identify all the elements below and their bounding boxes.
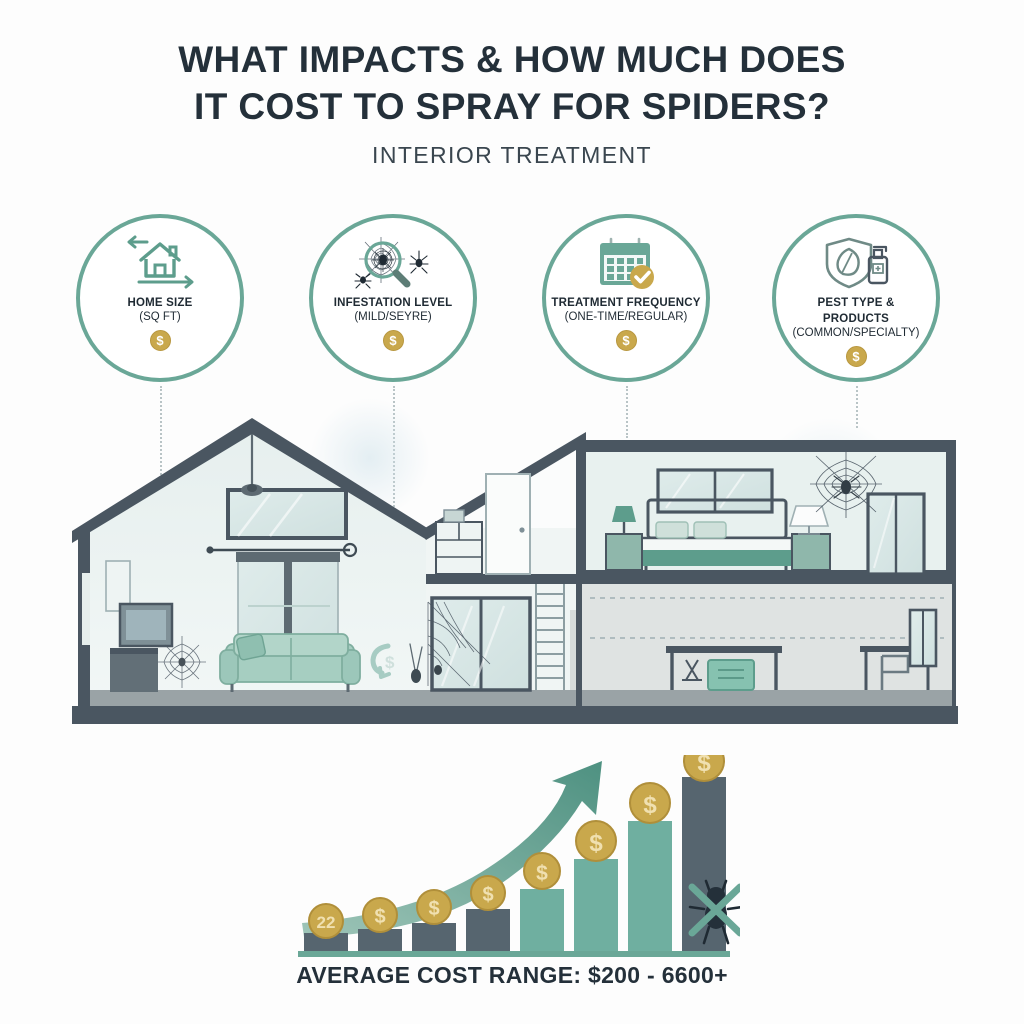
bar xyxy=(412,923,456,951)
svg-text:$: $ xyxy=(536,862,548,885)
bar xyxy=(574,859,618,951)
house-with-arrows-icon xyxy=(117,232,203,294)
factor-label-2: PRODUCTS xyxy=(823,312,889,326)
page-title-line1: WHAT IMPACTS & HOW MUCH DOES xyxy=(0,36,1024,83)
factor-label: INFESTATION LEVEL xyxy=(334,296,453,310)
coin-badge-icon: $ xyxy=(616,330,637,351)
factor-circles-row: HOME SIZE (SQ FT) $ xyxy=(0,214,1024,384)
coin-icon: $ xyxy=(630,783,670,823)
factor-sublabel: (ONE-TIME/REGULAR) xyxy=(565,310,688,324)
calendar-check-icon xyxy=(581,232,671,294)
svg-text:$: $ xyxy=(374,906,385,928)
svg-text:22: 22 xyxy=(317,913,336,932)
svg-text:$: $ xyxy=(385,653,395,672)
coin-icon: $ xyxy=(471,876,505,910)
magnifier-spiderweb-icon xyxy=(341,232,446,294)
shield-leaf-spray-icon xyxy=(811,232,901,294)
bar xyxy=(628,821,672,951)
factor-sublabel: (MILD/SEYRE) xyxy=(354,310,431,324)
cost-growth-chart: 22 $ $ $ $ xyxy=(290,755,740,960)
svg-text:$: $ xyxy=(643,792,657,819)
bar xyxy=(520,889,564,951)
svg-text:$: $ xyxy=(428,898,439,920)
factor-label: TREATMENT FREQUENCY xyxy=(551,296,700,310)
factor-sublabel: (COMMON/SPECIALTY) xyxy=(793,326,920,340)
factor-home-size[interactable]: HOME SIZE (SQ FT) $ xyxy=(76,214,244,382)
svg-text:$: $ xyxy=(482,884,493,906)
svg-text:$: $ xyxy=(697,755,711,777)
factor-treatment-frequency[interactable]: TREATMENT FREQUENCY (ONE-TIME/REGULAR) $ xyxy=(542,214,710,382)
bar xyxy=(466,909,510,951)
average-cost-range-caption: AVERAGE COST RANGE: $200 - 6600+ xyxy=(0,962,1024,989)
coin-icon: $ xyxy=(576,821,616,861)
factor-infestation-level[interactable]: INFESTATION LEVEL (MILD/SEYRE) $ xyxy=(309,214,477,382)
svg-text:$: $ xyxy=(589,830,603,857)
page-subtitle: INTERIOR TREATMENT xyxy=(0,142,1024,169)
coin-badge-icon: $ xyxy=(383,330,404,351)
factor-sublabel: (SQ FT) xyxy=(139,310,181,324)
factor-label: PEST TYPE & xyxy=(818,296,895,310)
factor-label: HOME SIZE xyxy=(127,296,192,310)
coin-icon: $ xyxy=(524,853,560,889)
hallway-stairs-section xyxy=(420,432,586,710)
factor-pest-type-products[interactable]: PEST TYPE & PRODUCTS (COMMON/SPECIALTY) … xyxy=(772,214,940,382)
coin-icon: $ xyxy=(417,890,451,924)
header: WHAT IMPACTS & HOW MUCH DOES IT COST TO … xyxy=(0,36,1024,169)
house-cutaway-illustration: $ xyxy=(70,398,960,733)
coin-badge-icon: $ xyxy=(150,330,171,351)
page-title-line2: IT COST TO SPRAY FOR SPIDERS? xyxy=(0,83,1024,130)
coin-icon: $ xyxy=(363,898,397,932)
coin-badge-icon: $ xyxy=(846,346,867,367)
coin-icon: 22 xyxy=(309,904,343,938)
chart-baseline xyxy=(298,951,730,957)
right-wing xyxy=(576,440,956,710)
house-foundation xyxy=(72,706,958,724)
infographic-canvas: WHAT IMPACTS & HOW MUCH DOES IT COST TO … xyxy=(0,0,1024,1024)
